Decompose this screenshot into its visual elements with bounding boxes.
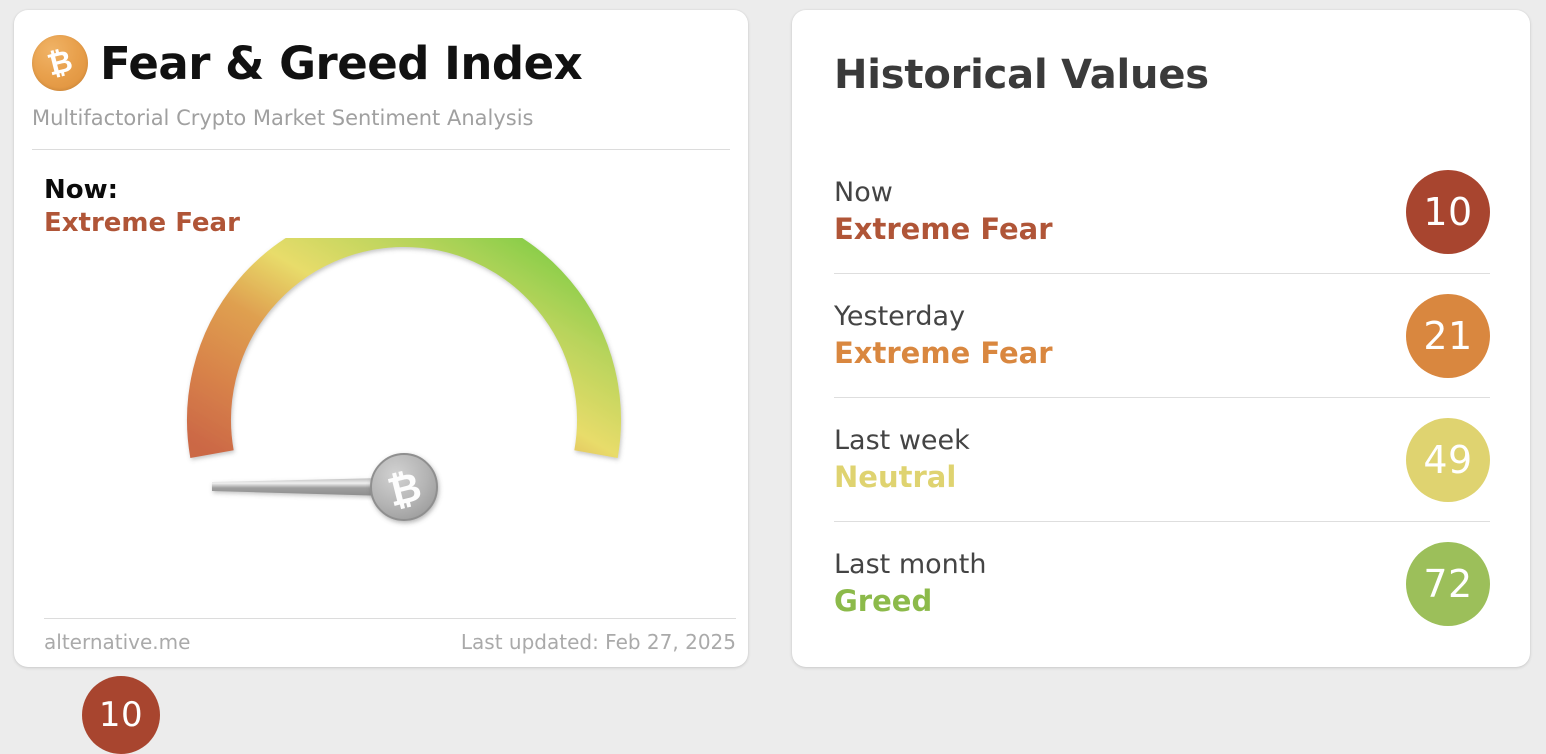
period-label: Last week xyxy=(834,427,970,454)
last-updated-label: Last updated: Feb 27, 2025 xyxy=(461,630,736,654)
gauge-card-footer: alternative.me Last updated: Feb 27, 202… xyxy=(44,630,736,654)
gauge-area: ₿ 10 xyxy=(32,238,730,600)
bitcoin-icon: ₿ xyxy=(32,35,88,91)
gauge-card-header: ₿ Fear & Greed Index Multifactorial Cryp… xyxy=(32,32,730,150)
historical-title: Historical Values xyxy=(834,52,1209,98)
gauge-dial: ₿ xyxy=(154,238,654,600)
status-badge: 49 xyxy=(1406,418,1490,502)
classification-label: Extreme Fear xyxy=(834,339,1053,368)
now-label: Now: xyxy=(44,174,240,207)
row-texts: Yesterday Extreme Fear xyxy=(834,303,1053,368)
header-divider xyxy=(32,149,730,150)
list-item[interactable]: Yesterday Extreme Fear 21 xyxy=(834,274,1490,398)
badge-value: 49 xyxy=(1423,438,1472,482)
list-item[interactable]: Now Extreme Fear 10 xyxy=(834,150,1490,274)
period-label: Last month xyxy=(834,551,986,578)
page-subtitle: Multifactorial Crypto Market Sentiment A… xyxy=(32,108,730,129)
historical-list: Now Extreme Fear 10 Yesterday Extreme Fe… xyxy=(834,150,1490,645)
svg-text:₿: ₿ xyxy=(44,44,76,83)
title-row: ₿ Fear & Greed Index xyxy=(32,32,730,94)
source-label[interactable]: alternative.me xyxy=(44,630,190,654)
badge-value: 72 xyxy=(1423,562,1472,606)
row-texts: Last month Greed xyxy=(834,551,986,616)
badge-value: 10 xyxy=(1423,190,1472,234)
footer-divider xyxy=(44,618,736,619)
page-title: Fear & Greed Index xyxy=(100,41,582,86)
bitcoin-needle-icon: ₿ xyxy=(371,454,437,520)
page-root: ₿ Fear & Greed Index Multifactorial Cryp… xyxy=(0,0,1546,683)
status-badge: 21 xyxy=(1406,294,1490,378)
gauge-value-badge: 10 xyxy=(82,676,160,754)
classification-label: Greed xyxy=(834,587,986,616)
list-item[interactable]: Last week Neutral 49 xyxy=(834,398,1490,522)
fear-greed-gauge-card: ₿ Fear & Greed Index Multifactorial Cryp… xyxy=(14,10,748,667)
list-item[interactable]: Last month Greed 72 xyxy=(834,522,1490,645)
badge-value: 21 xyxy=(1423,314,1472,358)
current-value-block: Now: Extreme Fear xyxy=(44,174,240,241)
gauge-value-text: 10 xyxy=(99,695,143,735)
period-label: Yesterday xyxy=(834,303,1053,330)
row-texts: Last week Neutral xyxy=(834,427,970,492)
status-badge: 72 xyxy=(1406,542,1490,626)
period-label: Now xyxy=(834,179,1053,206)
classification-label: Neutral xyxy=(834,463,970,492)
classification-label: Extreme Fear xyxy=(834,215,1053,244)
historical-values-card: Historical Values Now Extreme Fear 10 Ye… xyxy=(792,10,1530,667)
status-badge: 10 xyxy=(1406,170,1490,254)
row-texts: Now Extreme Fear xyxy=(834,179,1053,244)
now-classification: Extreme Fear xyxy=(44,207,240,240)
